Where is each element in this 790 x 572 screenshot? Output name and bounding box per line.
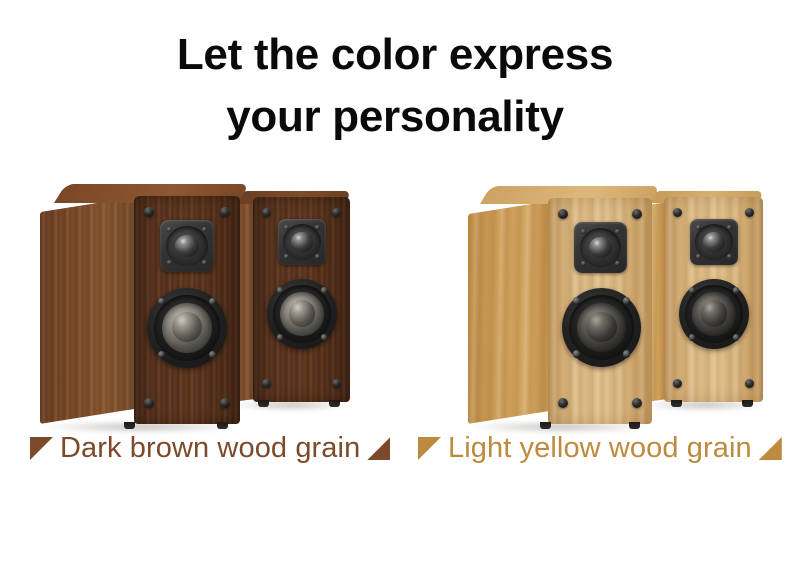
speaker-cabinet	[468, 186, 652, 424]
baffle-bolt-top-left	[144, 207, 154, 217]
cabinet-foot-left	[258, 400, 269, 407]
cabinet-front-baffle	[134, 196, 240, 424]
baffle-bolt-top-left	[558, 209, 568, 219]
tweeter-screw-tl	[696, 225, 701, 230]
woofer-screw-br	[321, 334, 327, 340]
baffle-bolt-bottom-left	[262, 379, 271, 388]
baffle-bolt-top-left	[262, 208, 271, 217]
baffle-bolt-top-right	[220, 207, 230, 217]
woofer-screw-br	[209, 351, 216, 358]
woofer-dust-cap	[701, 300, 728, 327]
speaker-dark-rear	[232, 187, 350, 402]
cabinet-front-baffle	[253, 197, 350, 402]
tweeter-screw-tr	[727, 225, 732, 230]
tweeter-screw-tr	[315, 225, 320, 230]
tweeter-dome	[291, 232, 312, 251]
woofer-driver	[147, 288, 227, 368]
caption-dark-brown: Dark brown wood grain	[30, 434, 390, 463]
woofer-screw-tr	[209, 298, 216, 305]
baffle-bolt-top-right	[632, 209, 642, 219]
baffle-bolt-bottom-right	[220, 398, 230, 408]
caption-dark-brown-label: Dark brown wood grain	[60, 434, 360, 463]
woofer-screw-tr	[321, 287, 327, 293]
cabinet-side-panel	[468, 199, 560, 424]
tweeter-screw-br	[727, 254, 732, 259]
woofer-screw-br	[623, 350, 630, 357]
woofer-screw-bl	[277, 334, 283, 340]
headline-line-1: Let the color express	[177, 30, 613, 79]
baffle-bolt-bottom-right	[745, 379, 754, 388]
speaker-dark-front	[40, 184, 240, 424]
woofer-driver	[679, 279, 749, 349]
woofer-screw-tl	[573, 297, 580, 304]
baffle-bolt-bottom-right	[632, 398, 642, 408]
tweeter-driver	[690, 219, 738, 265]
triangle-left-icon	[30, 437, 53, 460]
tweeter-screw-bl	[167, 260, 172, 265]
caption-light-yellow: Light yellow wood grain	[418, 434, 782, 463]
baffle-bolt-bottom-left	[673, 379, 682, 388]
woofer-screw-bl	[689, 334, 695, 340]
cabinet-side-panel	[40, 195, 148, 424]
tweeter-screw-br	[202, 260, 207, 265]
woofer-dust-cap	[586, 312, 616, 342]
triangle-left-icon	[418, 437, 441, 460]
woofer-screw-tr	[733, 287, 739, 293]
speaker-cabinet	[645, 187, 763, 402]
page-headline: Let the color express your personality	[0, 24, 790, 149]
woofer-screw-tl	[689, 287, 695, 293]
cabinet-foot-right	[742, 400, 753, 407]
cabinet-foot-left	[540, 422, 551, 429]
tweeter-screw-tl	[581, 229, 586, 234]
woofer-driver	[267, 279, 337, 349]
tweeter-screw-br	[315, 254, 320, 259]
caption-light-yellow-label: Light yellow wood grain	[448, 434, 752, 463]
triangle-right-icon	[759, 437, 782, 460]
cabinet-foot-left	[124, 422, 135, 429]
cabinet-foot-left	[671, 400, 682, 407]
woofer-screw-tr	[623, 297, 630, 304]
cabinet-foot-right	[629, 422, 640, 429]
tweeter-screw-br	[615, 261, 620, 266]
speaker-cabinet	[40, 184, 240, 424]
cabinet-front-baffle	[664, 197, 763, 402]
speaker-cabinet	[232, 187, 350, 402]
product-stage	[0, 168, 790, 430]
tweeter-screw-tr	[615, 229, 620, 234]
woofer-dust-cap	[289, 300, 316, 327]
cabinet-front-baffle	[548, 198, 652, 424]
headline-line-2: your personality	[0, 86, 790, 148]
woofer-screw-br	[733, 334, 739, 340]
tweeter-dome	[175, 235, 199, 257]
tweeter-screw-tl	[284, 225, 289, 230]
baffle-bolt-bottom-left	[558, 398, 568, 408]
baffle-bolt-top-left	[673, 208, 682, 217]
tweeter-screw-tr	[202, 227, 207, 232]
woofer-driver	[562, 288, 641, 367]
tweeter-screw-bl	[284, 254, 289, 259]
finish-captions: Dark brown wood grain Light yellow wood …	[0, 434, 790, 482]
cabinet-foot-right	[217, 422, 228, 429]
tweeter-dome	[703, 232, 724, 251]
speaker-light-front	[468, 186, 652, 424]
tweeter-driver	[278, 219, 326, 265]
baffle-bolt-bottom-right	[332, 379, 341, 388]
woofer-screw-tl	[277, 287, 283, 293]
baffle-bolt-top-right	[332, 208, 341, 217]
woofer-screw-bl	[158, 351, 165, 358]
tweeter-driver	[160, 220, 214, 272]
tweeter-screw-bl	[581, 261, 586, 266]
triangle-right-icon	[367, 437, 390, 460]
tweeter-driver	[574, 222, 627, 273]
woofer-screw-bl	[573, 350, 580, 357]
speaker-light-rear	[645, 187, 763, 402]
cabinet-foot-right	[329, 400, 340, 407]
baffle-bolt-top-right	[745, 208, 754, 217]
baffle-bolt-bottom-left	[144, 398, 154, 408]
tweeter-screw-bl	[696, 254, 701, 259]
